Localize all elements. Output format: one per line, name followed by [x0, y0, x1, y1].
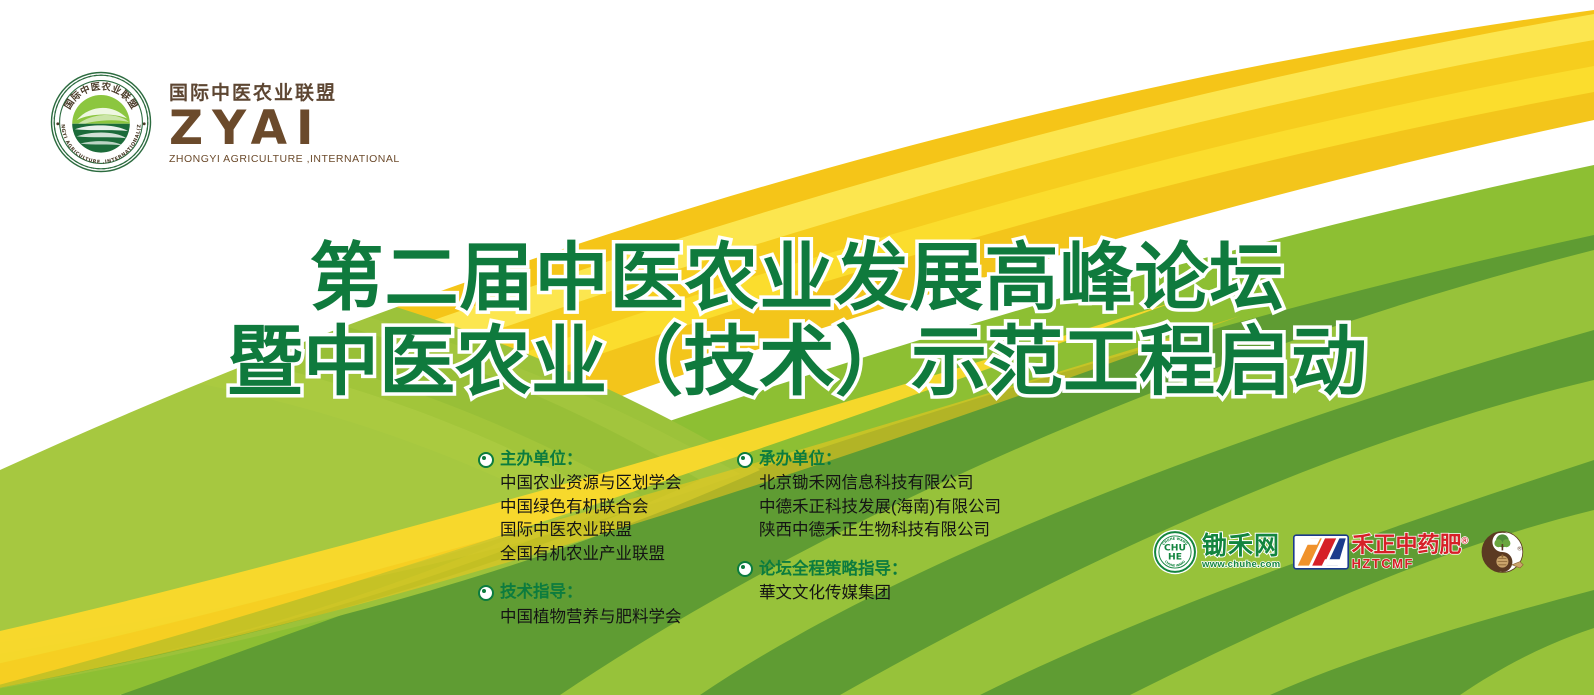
conference-banner: 国际中医农业联盟 ZHONGYI AGRICULTURE ,INTERNATIO… — [0, 0, 1594, 695]
info-heading-row: 承办单位： — [737, 448, 1001, 471]
list-item: 中国绿色有机联合会 — [500, 496, 682, 519]
bullet-ring-icon — [478, 452, 494, 468]
zyai-logo-text: 国际中医农业联盟 ZYAI ZHONGYI AGRICULTURE ,INTER… — [169, 80, 400, 164]
list-item: 華文文化传媒集团 — [759, 582, 1001, 605]
yinyang-tree-icon: ® — [1480, 528, 1528, 576]
info-block-hosts: 承办单位： 北京锄禾网信息科技有限公司 中德禾正科技发展(海南)有限公司 陕西中… — [737, 448, 1001, 543]
info-block-strategy-guidance: 论坛全程策略指导： 華文文化传媒集团 — [737, 558, 1001, 606]
bullet-ring-icon — [478, 585, 494, 601]
list-item: 中国植物营养与肥料学会 — [500, 606, 682, 629]
info-item-list: 華文文化传媒集团 — [737, 582, 1001, 605]
list-item: 中国农业资源与区划学会 — [500, 472, 682, 495]
registered-mark: ® — [1462, 536, 1469, 546]
chuhe-text: 锄禾网 www.chuhe.com — [1202, 534, 1281, 570]
chuhe-url: www.chuhe.com — [1202, 560, 1281, 570]
sponsor-logo-chuhe: CHU HE CHUHE WANG CHUHE WANG 锄禾网 www.chu… — [1152, 529, 1281, 575]
info-item-list: 中国植物营养与肥料学会 — [478, 606, 682, 629]
title-line-1: 第二届中医农业发展高峰论坛 — [0, 236, 1594, 320]
zyai-name-en: ZHONGYI AGRICULTURE ,INTERNATIONAL — [169, 154, 400, 165]
hztcmf-text: 禾正中药肥® HZTCMF — [1352, 534, 1469, 570]
banner-title: 第二届中医农业发展高峰论坛 暨中医农业（技术）示范工程启动 — [0, 236, 1594, 407]
info-heading-row: 主办单位： — [478, 448, 682, 471]
info-heading: 主办单位： — [500, 448, 583, 471]
info-heading: 承办单位： — [759, 448, 842, 471]
hztcmf-name-cn: 禾正中药肥® — [1352, 534, 1469, 556]
zyai-name-cn: 国际中医农业联盟 — [169, 84, 400, 103]
info-column-left: 主办单位： 中国农业资源与区划学会 中国绿色有机联合会 国际中医农业联盟 全国有… — [478, 448, 682, 629]
list-item: 全国有机农业产业联盟 — [500, 543, 682, 566]
info-column-right: 承办单位： 北京锄禾网信息科技有限公司 中德禾正科技发展(海南)有限公司 陕西中… — [737, 448, 1001, 606]
info-heading-row: 论坛全程策略指导： — [737, 558, 1001, 581]
info-heading: 技术指导： — [500, 581, 583, 604]
sponsor-logo-hztcmf: 禾正中药肥® HZTCMF — [1293, 532, 1469, 572]
hztcmf-z-mark-icon — [1293, 532, 1349, 572]
chuhe-name: 锄禾网 — [1202, 534, 1281, 559]
list-item: 国际中医农业联盟 — [500, 519, 682, 542]
info-item-list: 中国农业资源与区划学会 中国绿色有机联合会 国际中医农业联盟 全国有机农业产业联… — [478, 472, 682, 566]
info-heading-row: 技术指导： — [478, 581, 682, 604]
info-block-organizers: 主办单位： 中国农业资源与区划学会 中国绿色有机联合会 国际中医农业联盟 全国有… — [478, 448, 682, 566]
list-item: 北京锄禾网信息科技有限公司 — [759, 472, 1001, 495]
chuhe-seal-icon: CHU HE CHUHE WANG CHUHE WANG — [1152, 529, 1198, 575]
info-heading: 论坛全程策略指导： — [759, 558, 908, 581]
bullet-ring-icon — [737, 452, 753, 468]
zyai-logo: 国际中医农业联盟 ZHONGYI AGRICULTURE ,INTERNATIO… — [47, 68, 400, 176]
info-block-technical-guidance: 技术指导： 中国植物营养与肥料学会 — [478, 581, 682, 629]
info-item-list: 北京锄禾网信息科技有限公司 中德禾正科技发展(海南)有限公司 陕西中德禾正生物科… — [737, 472, 1001, 542]
sponsor-logo-strip: CHU HE CHUHE WANG CHUHE WANG 锄禾网 www.chu… — [1152, 528, 1528, 576]
zyai-seal-icon: 国际中医农业联盟 ZHONGYI AGRICULTURE ,INTERNATIO… — [47, 68, 155, 176]
zyai-acronym: ZYAI — [169, 105, 400, 153]
hztcmf-name-en: HZTCMF — [1352, 557, 1469, 570]
bullet-ring-icon — [737, 561, 753, 577]
svg-text:HE: HE — [1168, 552, 1182, 563]
svg-text:®: ® — [1517, 545, 1523, 552]
list-item: 陕西中德禾正生物科技有限公司 — [759, 519, 1001, 542]
title-line-2: 暨中医农业（技术）示范工程启动 — [0, 320, 1594, 407]
list-item: 中德禾正科技发展(海南)有限公司 — [759, 496, 1001, 519]
sponsor-logo-yinyang-tree: ® — [1480, 528, 1528, 576]
